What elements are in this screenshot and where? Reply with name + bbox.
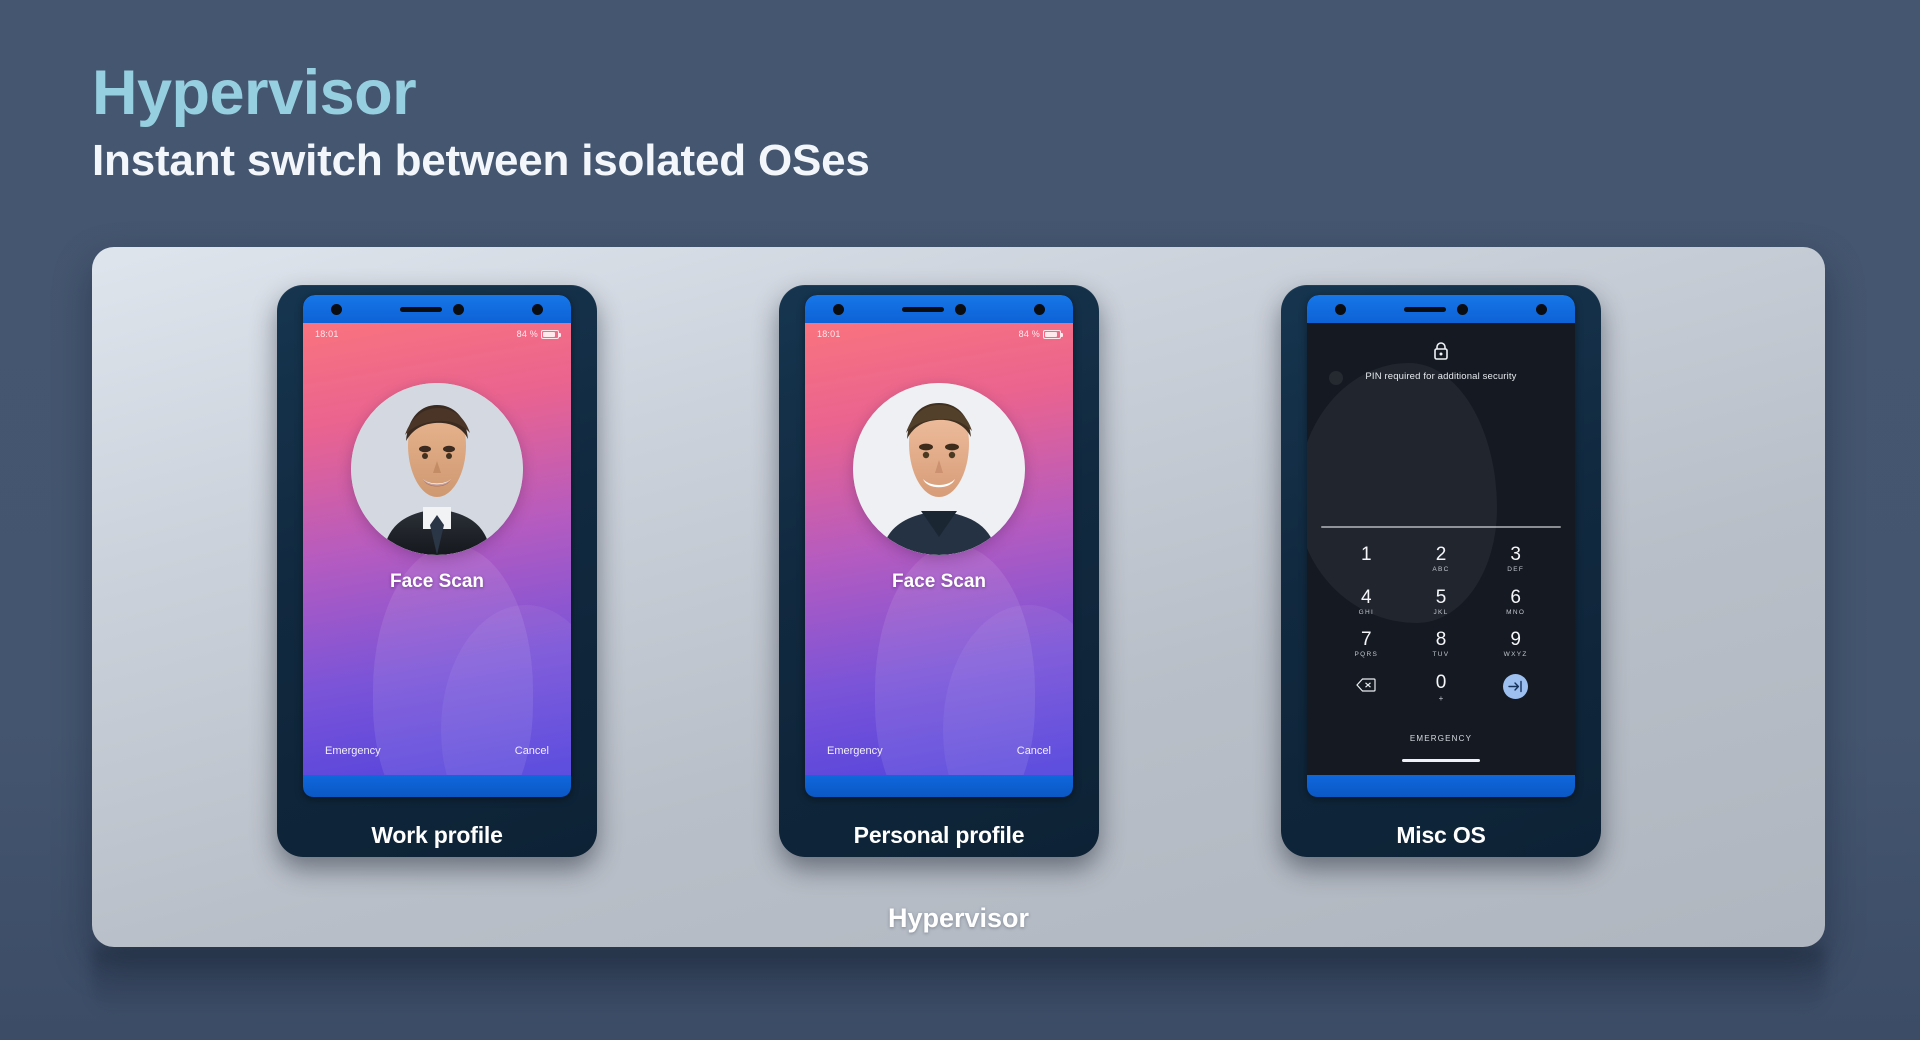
phone-screen-misc: PIN required for additional security 1 2… — [1307, 295, 1575, 797]
phone-bottom-bezel — [303, 775, 571, 797]
face-scan-prompt: Face Scan — [303, 571, 571, 593]
status-bar-time: 18:01 — [817, 329, 841, 339]
phone-bottom-bezel — [1307, 775, 1575, 797]
enter-icon — [1503, 674, 1528, 699]
keypad-key-2[interactable]: 2 ABC — [1404, 541, 1479, 578]
keypad-letters: PQRS — [1329, 652, 1404, 659]
slide-canvas: Hypervisor Instant switch between isolat… — [0, 0, 1920, 1040]
panel-shadow — [92, 947, 1825, 1017]
keypad-letters: DEF — [1478, 567, 1553, 574]
keypad-digit: 1 — [1329, 545, 1404, 564]
keypad-key-0[interactable]: 0 + — [1404, 669, 1479, 707]
keypad-plus: + — [1404, 695, 1479, 703]
camera-icon — [331, 304, 342, 315]
battery-icon — [541, 330, 559, 339]
avatar-portrait-icon — [351, 383, 523, 555]
phone-work-profile[interactable]: 18:01 84 % — [277, 285, 597, 857]
keypad-letters: JKL — [1404, 610, 1479, 617]
phone-personal-profile[interactable]: 18:01 84 % — [779, 285, 1099, 857]
battery-status: 84 % — [517, 329, 559, 339]
keypad-digit: 7 — [1329, 630, 1404, 649]
personal-profile-avatar — [853, 383, 1025, 555]
keypad-letters: MNO — [1478, 610, 1553, 617]
enter-button[interactable] — [1478, 669, 1553, 705]
page-title: Hypervisor — [92, 62, 870, 125]
status-bar-time: 18:01 — [315, 329, 339, 339]
work-profile-avatar — [351, 383, 523, 555]
keypad-key-8[interactable]: 8 TUV — [1404, 626, 1479, 663]
face-scan-screen-work: 18:01 84 % — [303, 323, 571, 775]
pin-lock-screen: PIN required for additional security 1 2… — [1307, 323, 1575, 775]
keypad-digit: 5 — [1404, 588, 1479, 607]
keypad-key-1[interactable]: 1 — [1329, 541, 1404, 578]
keypad-key-4[interactable]: 4 GHI — [1329, 584, 1404, 621]
battery-icon — [1043, 330, 1061, 339]
page-subtitle: Instant switch between isolated OSes — [92, 137, 870, 185]
keypad-key-3[interactable]: 3 DEF — [1478, 541, 1553, 578]
speaker-grille-icon — [1404, 307, 1446, 312]
home-indicator[interactable] — [1402, 759, 1480, 762]
hypervisor-footer-label: Hypervisor — [92, 903, 1825, 934]
phone-top-bezel — [1307, 295, 1575, 323]
speaker-grille-icon — [400, 307, 442, 312]
camera-icon — [1457, 304, 1468, 315]
camera-icon — [833, 304, 844, 315]
cancel-button[interactable]: Cancel — [1017, 745, 1051, 757]
phone-top-bezel — [805, 295, 1073, 323]
keypad-key-6[interactable]: 6 MNO — [1478, 584, 1553, 621]
keypad-letters: GHI — [1329, 610, 1404, 617]
status-bar: 18:01 84 % — [303, 329, 571, 339]
face-scan-screen-personal: 18:01 84 % — [805, 323, 1073, 775]
phone-row: 18:01 84 % — [92, 247, 1825, 947]
keypad-digit: 8 — [1404, 630, 1479, 649]
keypad-digit: 6 — [1478, 588, 1553, 607]
camera-icon — [1034, 304, 1045, 315]
battery-percent-label: 84 % — [517, 329, 538, 339]
emergency-button[interactable]: Emergency — [827, 745, 883, 757]
camera-icon — [1335, 304, 1346, 315]
camera-icon — [1536, 304, 1547, 315]
keypad-letters: ABC — [1404, 567, 1479, 574]
keypad-digit: 0 — [1404, 673, 1479, 692]
keypad-letters: WXYZ — [1478, 652, 1553, 659]
keypad-key-9[interactable]: 9 WXYZ — [1478, 626, 1553, 663]
face-scan-prompt: Face Scan — [805, 571, 1073, 593]
camera-icon — [532, 304, 543, 315]
battery-percent-label: 84 % — [1019, 329, 1040, 339]
hypervisor-panel: 18:01 84 % — [92, 247, 1825, 947]
emergency-call-button[interactable]: EMERGENCY — [1307, 734, 1575, 743]
keypad-key-7[interactable]: 7 PQRS — [1329, 626, 1404, 663]
phone-misc-os[interactable]: PIN required for additional security 1 2… — [1281, 285, 1601, 857]
pin-required-message: PIN required for additional security — [1307, 371, 1575, 382]
backspace-button[interactable] — [1329, 669, 1404, 705]
keypad-digit: 4 — [1329, 588, 1404, 607]
camera-icon — [453, 304, 464, 315]
phone-bottom-bezel — [805, 775, 1073, 797]
lockscreen-actions: Emergency Cancel — [303, 745, 571, 757]
pin-keypad[interactable]: 1 2 ABC 3 DEF — [1307, 541, 1575, 707]
phone-caption-misc: Misc OS — [1281, 822, 1601, 849]
keypad-letters: TUV — [1404, 652, 1479, 659]
status-bar: 18:01 84 % — [805, 329, 1073, 339]
keypad-digit: 3 — [1478, 545, 1553, 564]
phone-screen-personal: 18:01 84 % — [805, 295, 1073, 797]
phone-screen-work: 18:01 84 % — [303, 295, 571, 797]
header: Hypervisor Instant switch between isolat… — [92, 62, 870, 185]
keypad-key-5[interactable]: 5 JKL — [1404, 584, 1479, 621]
phone-top-bezel — [303, 295, 571, 323]
battery-status: 84 % — [1019, 329, 1061, 339]
lockscreen-actions: Emergency Cancel — [805, 745, 1073, 757]
backspace-icon — [1356, 678, 1376, 696]
phone-caption-personal: Personal profile — [779, 822, 1099, 849]
emergency-button[interactable]: Emergency — [325, 745, 381, 757]
cancel-button[interactable]: Cancel — [515, 745, 549, 757]
keypad-digit: 9 — [1478, 630, 1553, 649]
camera-icon — [955, 304, 966, 315]
pin-divider — [1321, 526, 1561, 528]
phone-caption-work: Work profile — [277, 822, 597, 849]
keypad-digit: 2 — [1404, 545, 1479, 564]
speaker-grille-icon — [902, 307, 944, 312]
lock-icon — [1432, 341, 1450, 366]
avatar-portrait-icon — [853, 383, 1025, 555]
